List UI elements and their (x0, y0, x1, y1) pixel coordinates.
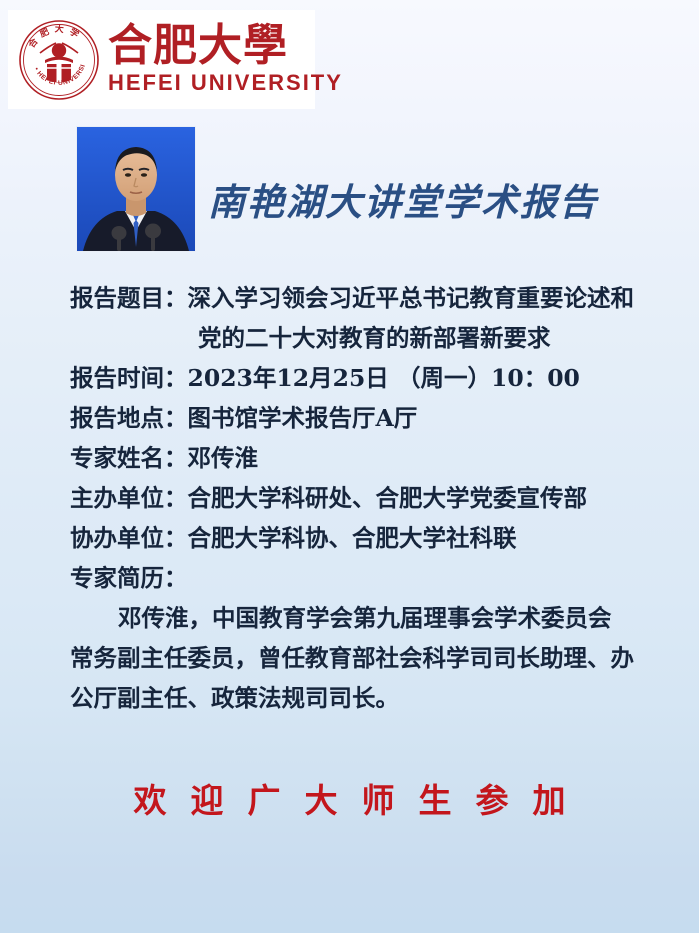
logo-name-en: HEFEI UNIVERSITY (108, 71, 343, 95)
detail-value-coorganizer: 合肥大学科协、合肥大学社科联 (188, 524, 517, 552)
poster-title: 南艳湖大讲堂学术报告 (208, 172, 628, 226)
welcome-message: 欢迎广大师生参加 (0, 774, 699, 822)
detail-row-speaker: 专家姓名：邓传淮 (70, 438, 670, 478)
university-logo: 合肥大学 • HEFEI UNIVERSITY • 合肥大學 HEFEI UNI… (8, 10, 315, 109)
bio-line-3: 公厅副主任、政策法规司司长。 (70, 678, 670, 718)
detail-label-topic: 报告题目： (70, 284, 188, 312)
detail-value-time: 2023年12月25日 （周一）10：00 (188, 364, 580, 392)
detail-label-location: 报告地点： (70, 404, 188, 432)
detail-row-topic: 报告题目：深入学习领会习近平总书记教育重要论述和 (70, 278, 670, 318)
bio-heading: 专家简历： (70, 558, 670, 598)
detail-label-coorganizer: 协办单位： (70, 524, 188, 552)
detail-label-time: 报告时间： (70, 364, 188, 392)
logo-name-cn: 合肥大學 (108, 24, 343, 69)
bio-line-2: 常务副主任委员，曾任教育部社会科学司司长助理、办 (70, 638, 670, 678)
detail-value-topic-cont: 党的二十大对教育的新部署新要求 (198, 324, 551, 352)
detail-row-location: 报告地点：图书馆学术报告厅A厅 (70, 398, 670, 438)
detail-value-organizer: 合肥大学科研处、合肥大学党委宣传部 (188, 484, 588, 512)
detail-row-coorganizer: 协办单位：合肥大学科协、合肥大学社科联 (70, 518, 670, 558)
logo-wordmark: 合肥大學 HEFEI UNIVERSITY (108, 24, 343, 95)
detail-value-topic: 深入学习领会习近平总书记教育重要论述和 (188, 284, 635, 312)
poster-body: 报告题目：深入学习领会习近平总书记教育重要论述和 党的二十大对教育的新部署新要求… (70, 278, 670, 718)
detail-row-organizer: 主办单位：合肥大学科研处、合肥大学党委宣传部 (70, 478, 670, 518)
bio-line-1: 邓传淮，中国教育学会第九届理事会学术委员会 (70, 598, 670, 638)
detail-label-speaker: 专家姓名： (70, 444, 188, 472)
detail-value-speaker: 邓传淮 (188, 444, 259, 472)
detail-value-location: 图书馆学术报告厅A厅 (188, 404, 418, 432)
university-seal-icon: 合肥大学 • HEFEI UNIVERSITY • (18, 19, 100, 101)
detail-row-time: 报告时间：2023年12月25日 （周一）10：00 (70, 358, 670, 398)
speaker-portrait-photo (76, 126, 196, 252)
detail-label-organizer: 主办单位： (70, 484, 188, 512)
detail-row-topic-cont: 党的二十大对教育的新部署新要求 (70, 318, 670, 358)
lecture-poster: 合肥大学 • HEFEI UNIVERSITY • 合肥大學 HEFEI UNI… (0, 0, 699, 933)
